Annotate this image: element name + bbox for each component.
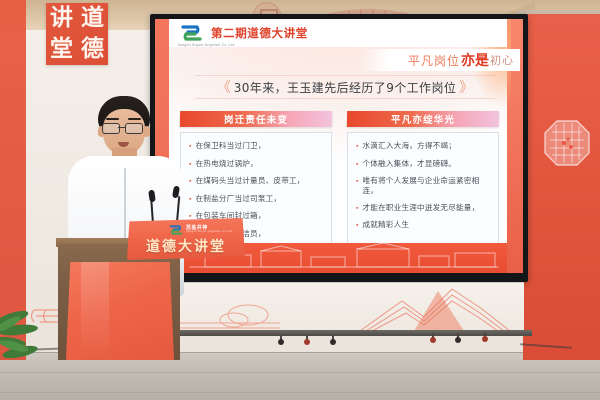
stand-caster (455, 333, 461, 344)
lattice-window-icon (544, 120, 590, 166)
panel-right-heading-text: 平凡亦绽华光 (391, 112, 455, 126)
list-item: ▪ 在煤码头当过计量员、皮带工， (189, 176, 327, 187)
bullet-text: 在热电烧过锅炉， (195, 159, 257, 169)
panel-right-body: ▪ 水滴汇入大海，方得不竭； ▪ 个体融入集体，才显磅礴。 ▪ 唯有将个人发展与… (347, 132, 499, 250)
list-item: ▪ 水滴汇入大海，方得不竭； (356, 141, 494, 152)
bullet-text: 在保卫科当过门卫， (195, 141, 265, 151)
quote-close-mark: 》 (459, 77, 473, 97)
shirt-collar (130, 156, 141, 172)
speaker-brow (128, 118, 141, 120)
bullet-dot-icon: ▪ (356, 220, 358, 231)
bullet-dot-icon: ▪ (356, 159, 358, 170)
list-item: ▪ 唯有将个人发展与企业命运紧密相连， (356, 176, 494, 196)
podium-brand-sub: Jiangsu Suyan Jingshen Co.,Ltd (186, 230, 232, 233)
slide-header-title: 第二期道德大讲堂 (211, 25, 308, 41)
list-item: ▪ 个体融入集体，才显磅礴。 (356, 159, 494, 170)
list-item: ▪ 在保卫科当过门卫， (189, 141, 327, 152)
potted-plant (0, 300, 66, 370)
panel-left-heading-text: 岗迁责任未变 (224, 112, 288, 126)
list-item: ▪ 才能在职业生涯中迸发无尽能量， (356, 203, 494, 214)
stand-caster (482, 332, 488, 343)
plaque-char: 道 (77, 3, 108, 34)
plaque-char: 堂 (46, 34, 77, 65)
quote-open-mark: 《 (217, 77, 231, 97)
bullet-text: 唯有将个人发展与企业命运紧密相连， (362, 176, 494, 196)
right-red-banner (523, 14, 600, 360)
display-stand-rail (146, 330, 532, 336)
slide-headline: 平凡岗位 亦是 初心 (360, 49, 520, 71)
panel-left-header: 岗迁责任未变 (180, 111, 332, 127)
scene-root: 讲 道 堂 德 (0, 0, 600, 400)
wall-plaque-seal: 讲 道 堂 德 (46, 3, 108, 65)
list-item: ▪ 在热电烧过锅炉， (189, 159, 327, 170)
bullet-dot-icon: ▪ (356, 141, 358, 152)
bullet-text: 才能在职业生涯中迸发无尽能量， (362, 203, 479, 213)
floor-line (0, 392, 600, 393)
stand-caster (278, 335, 284, 346)
podium-sign: 苏盐井神 Jiangsu Suyan Jingshen Co.,Ltd 道德大讲… (127, 218, 245, 260)
bullet-text: 在制盐分厂当过司泵工， (195, 194, 281, 204)
company-logo-icon (179, 23, 204, 43)
slide-panel-right: 平凡亦绽华光 ▪ 水滴汇入大海，方得不竭； ▪ 个体融入集体，才显磅礴。 ▪ 唯… (347, 111, 499, 250)
plaque-char: 德 (77, 34, 108, 65)
bullet-text: 在煤码头当过计量员、皮带工， (195, 176, 304, 186)
quote-text: 30年来，王玉建先后经历了9个工作岗位 (234, 79, 457, 96)
stand-caster (330, 335, 336, 346)
headline-lead: 平凡岗位 (408, 52, 460, 69)
display-stand-panel (152, 282, 524, 335)
company-logo-caption: Jiangsu Suyan Jingshen Co.,Ltd (177, 43, 235, 47)
floor-line (0, 372, 600, 373)
podium-logo-icon (168, 223, 184, 235)
stand-caster (304, 335, 310, 346)
podium-sign-title: 道德大讲堂 (127, 236, 245, 256)
plaque-char: 讲 (46, 3, 77, 34)
podium-front-panel (66, 262, 174, 360)
headline-emphasis: 亦是 (461, 50, 489, 70)
headline-tail: 初心 (490, 52, 514, 68)
bullet-text: 个体融入集体，才显磅礴。 (362, 159, 456, 169)
bullet-dot-icon: ▪ (356, 203, 358, 214)
list-item: ▪ 在制盐分厂当过司泵工， (189, 194, 327, 205)
bullet-text: 成就精彩人生 (362, 220, 409, 230)
stand-lineart (152, 283, 524, 335)
panel-right-header: 平凡亦绽华光 (347, 111, 499, 127)
glasses-icon (102, 123, 147, 132)
list-item: ▪ 成就精彩人生 (356, 220, 494, 231)
bullet-text: 水滴汇入大海，方得不竭； (362, 141, 456, 151)
slide-quote-line: 《 30年来，王玉建先后经历了9个工作岗位 》 (195, 75, 495, 99)
stand-caster (430, 333, 436, 344)
speaker-brow (106, 118, 119, 120)
shirt-collar (107, 156, 118, 172)
bullet-dot-icon: ▪ (356, 176, 358, 187)
slide-header: Jiangsu Suyan Jingshen Co.,Ltd 第二期道德大讲堂 (169, 19, 507, 47)
